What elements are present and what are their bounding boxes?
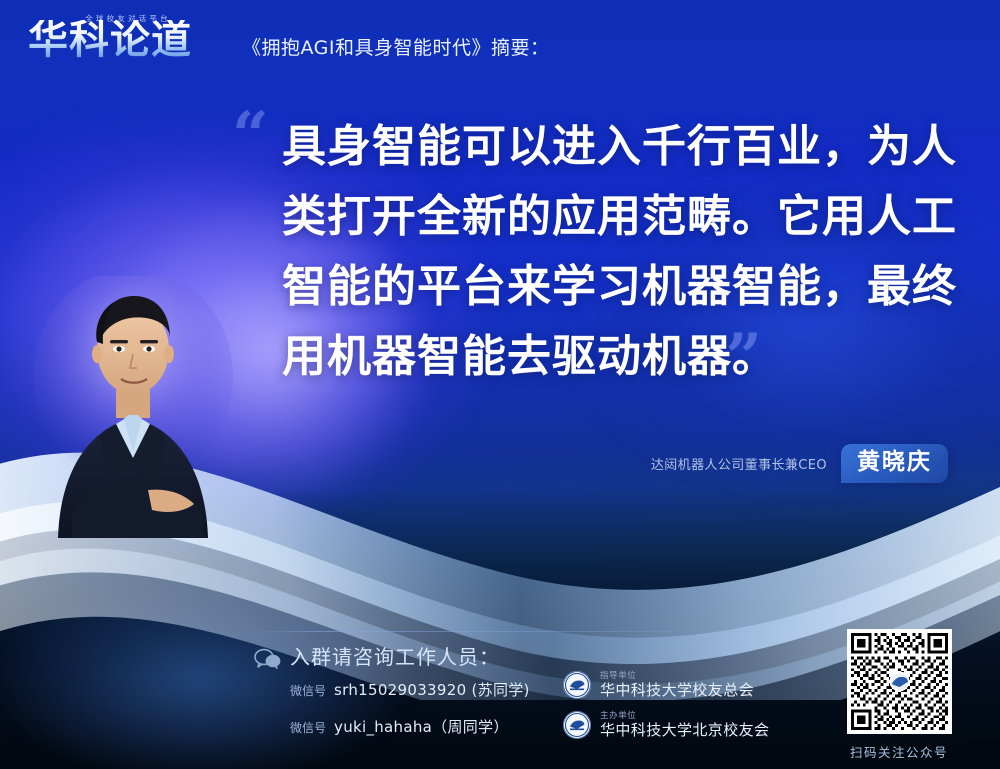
contact-title: 入群请咨询工作人员：	[290, 641, 500, 670]
wechat-icon	[254, 646, 282, 670]
footer-divider	[256, 631, 780, 632]
organization-text: 主办单位 华中科技大学北京校友会	[600, 711, 769, 740]
wechat-contact-row: 微信号 srh15029033920 (苏同学)	[290, 679, 530, 700]
speaker-portrait	[28, 276, 238, 538]
university-seal-icon	[562, 710, 592, 740]
poster-header: 全球校友对话平台 华科论道 《拥抱AGI和具身智能时代》摘要：	[0, 0, 1000, 92]
quote-line: 用机器智能去驱动机器。	[282, 322, 942, 392]
wechat-label: 微信号	[290, 682, 326, 699]
page-title: 《拥抱AGI和具身智能时代》摘要：	[242, 33, 550, 60]
speaker-attribution: 达闼机器人公司董事长兼CEO 黄晓庆	[651, 444, 948, 483]
organization-name: 华中科技大学校友总会	[600, 681, 754, 700]
organization-text: 指导单位 华中科技大学校友总会	[600, 671, 754, 700]
speaker-name-badge: 黄晓庆	[841, 444, 948, 483]
quote-line: 智能的平台来学习机器智能，最终	[282, 252, 942, 322]
qr-code-image	[851, 633, 948, 730]
speaker-role: 达闼机器人公司董事长兼CEO	[651, 454, 827, 473]
wechat-id: yuki_hahaha（周同学）	[334, 716, 509, 737]
organization-name: 华中科技大学北京校友会	[600, 721, 769, 740]
organization-kind: 主办单位	[600, 711, 769, 721]
wechat-label: 微信号	[290, 719, 326, 736]
wechat-contact-row: 微信号 yuki_hahaha（周同学）	[290, 716, 509, 737]
quote-line: 具身智能可以进入千行百业，为人	[282, 112, 942, 182]
university-seal-icon	[562, 670, 592, 700]
quote-text: 具身智能可以进入千行百业，为人 类打开全新的应用范畴。它用人工 智能的平台来学习…	[282, 112, 942, 392]
wechat-id: srh15029033920 (苏同学)	[334, 679, 530, 700]
quote-open-icon: “	[232, 104, 269, 168]
qr-caption: 扫码关注公众号	[840, 742, 958, 761]
brand-logo: 全球校友对话平台 华科论道	[28, 11, 218, 81]
qr-code-icon[interactable]	[847, 629, 952, 734]
organization-kind: 指导单位	[600, 671, 754, 681]
quote-line: 类打开全新的应用范畴。它用人工	[282, 182, 942, 252]
brand-logo-text: 华科论道	[28, 20, 218, 60]
organization-host: 主办单位 华中科技大学北京校友会	[562, 710, 769, 740]
quote-close-icon: ”	[725, 326, 762, 390]
qr-section: 扫码关注公众号	[840, 629, 958, 759]
organization-guidance: 指导单位 华中科技大学校友总会	[562, 670, 754, 700]
poster-root: 全球校友对话平台 华科论道 《拥抱AGI和具身智能时代》摘要： “ 具身智能可以…	[0, 0, 1000, 769]
